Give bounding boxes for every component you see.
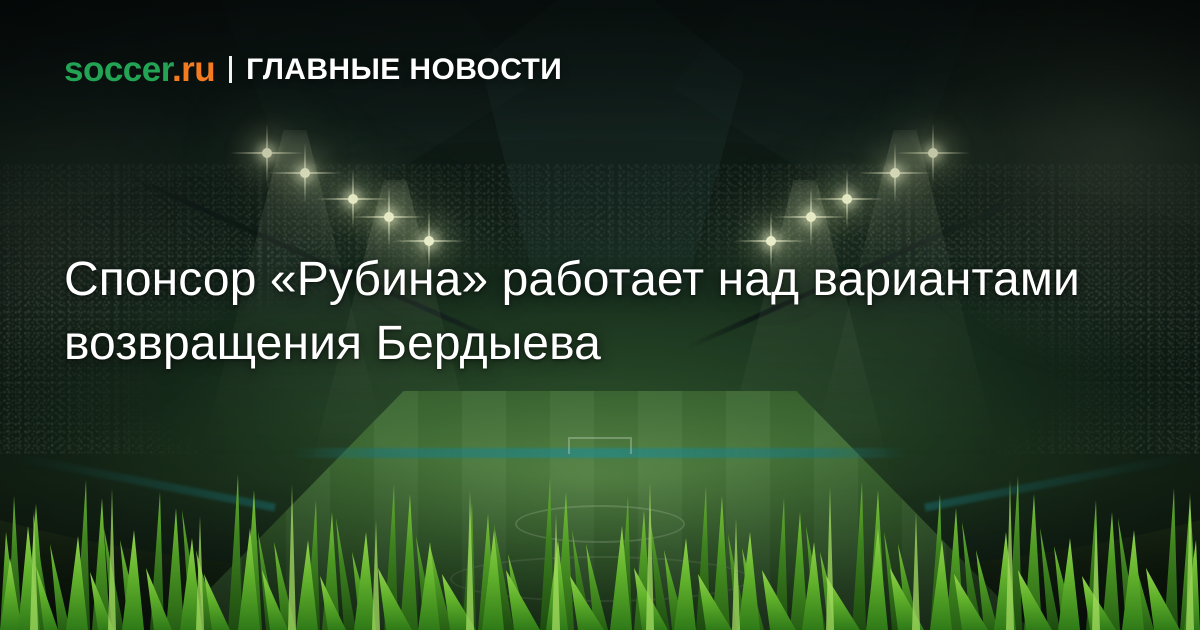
news-cover-card: soccer.ru ГЛАВНЫЕ НОВОСТИ Спонсор «Рубин… [0, 0, 1200, 630]
grass-foreground [0, 440, 1200, 630]
header-separator-icon [229, 56, 232, 83]
logo-tld-text: .ru [172, 50, 215, 89]
site-header: soccer.ru ГЛАВНЫЕ НОВОСТИ [64, 52, 562, 87]
header-kicker: ГЛАВНЫЕ НОВОСТИ [246, 55, 562, 85]
article-headline: Спонсор «Рубина» работает над вариантами… [64, 248, 1134, 377]
soccer-ru-logo[interactable]: soccer.ru [64, 52, 215, 87]
logo-brand-text: soccer [64, 50, 172, 89]
